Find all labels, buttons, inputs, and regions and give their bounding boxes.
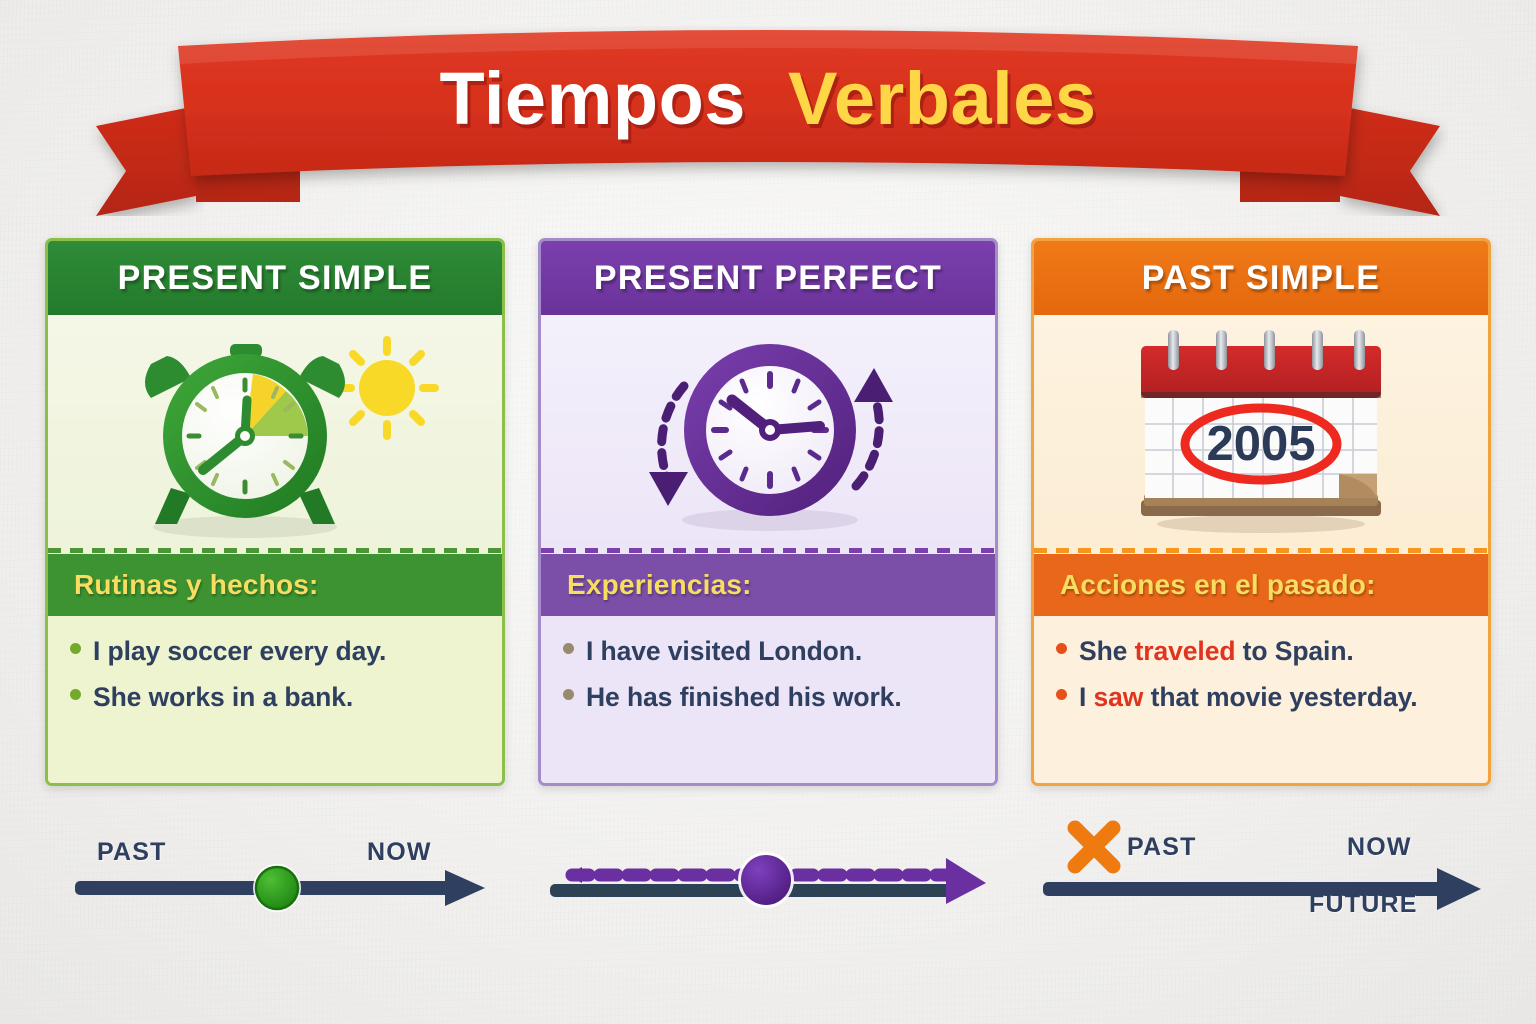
list-item: She works in a bank. [70, 682, 484, 712]
card-title-present-simple: PRESENT SIMPLE [118, 259, 433, 298]
timeline-arrow-green [45, 800, 505, 990]
list-item: I play soccer every day. [70, 636, 484, 666]
card-title-past-simple: PAST SIMPLE [1142, 259, 1380, 298]
example-text-pre: I [1079, 682, 1094, 712]
ribbon-graphic [0, 26, 1536, 216]
timeline-present-perfect [538, 800, 998, 990]
examples-present-perfect: I have visited London. He has finished h… [541, 616, 995, 783]
timeline-label-past: PAST [1127, 833, 1197, 862]
example-text: He has finished his work. [586, 682, 902, 712]
timeline-arrow-navy [1031, 800, 1491, 990]
band-past-simple: Acciones en el pasado: [1034, 554, 1488, 616]
timeline-label-now: NOW [367, 838, 432, 867]
examples-past-simple: She traveled to Spain. I saw that movie … [1034, 616, 1488, 783]
list-item: I saw that movie yesterday. [1056, 682, 1470, 712]
illustration-present-simple [48, 315, 502, 548]
example-text: She works in a bank. [93, 682, 353, 712]
illustration-past-simple: 2005 [1034, 315, 1488, 548]
examples-present-simple: I play soccer every day. She works in a … [48, 616, 502, 783]
example-highlight-verb: saw [1094, 682, 1144, 712]
example-highlight-verb: traveled [1135, 636, 1236, 666]
card-header-past-simple: PAST SIMPLE [1034, 241, 1488, 315]
list-item: I have visited London. [563, 636, 977, 666]
band-present-perfect: Experiencias: [541, 554, 995, 616]
timeline-past-simple: PAST NOW FUTURE [1031, 800, 1491, 990]
card-header-present-simple: PRESENT SIMPLE [48, 241, 502, 315]
band-label-present-perfect: Experiencias: [567, 569, 752, 601]
bullet-icon [1056, 643, 1067, 654]
calendar-2005-icon: 2005 [1111, 322, 1411, 542]
timeline-arrow-purple [538, 800, 998, 990]
timeline-label-future: FUTURE [1309, 890, 1418, 919]
card-present-perfect[interactable]: PRESENT PERFECT [538, 238, 998, 786]
timeline-label-now: NOW [1347, 833, 1412, 862]
timelines-row: PAST NOW [45, 800, 1491, 990]
example-text: I have visited London. [586, 636, 862, 666]
banner: Tiempos Verbales [0, 26, 1536, 216]
list-item: He has finished his work. [563, 682, 977, 712]
bullet-icon [563, 689, 574, 700]
clock-with-circular-arrows-icon [588, 322, 948, 542]
bullet-icon [563, 643, 574, 654]
timeline-present-simple: PAST NOW [45, 800, 505, 990]
calendar-year-text: 2005 [1206, 417, 1315, 471]
bullet-icon [70, 643, 81, 654]
sun-icon [339, 340, 435, 436]
bullet-icon [1056, 689, 1067, 700]
example-text-post: that movie yesterday. [1143, 682, 1417, 712]
band-label-present-simple: Rutinas y hechos: [74, 569, 319, 601]
card-title-present-perfect: PRESENT PERFECT [594, 259, 942, 298]
card-present-simple[interactable]: PRESENT SIMPLE [45, 238, 505, 786]
band-label-past-simple: Acciones en el pasado: [1060, 569, 1376, 601]
bullet-icon [70, 689, 81, 700]
example-text: I play soccer every day. [93, 636, 386, 666]
list-item: She traveled to Spain. [1056, 636, 1470, 666]
example-text-pre: She [1079, 636, 1135, 666]
card-past-simple[interactable]: PAST SIMPLE [1031, 238, 1491, 786]
card-header-present-perfect: PRESENT PERFECT [541, 241, 995, 315]
timeline-label-past: PAST [97, 838, 167, 867]
example-text-post: to Spain. [1235, 636, 1353, 666]
alarm-clock-with-sun-icon [95, 322, 455, 542]
band-present-simple: Rutinas y hechos: [48, 554, 502, 616]
x-mark-icon [1075, 828, 1113, 866]
tense-cards-row: PRESENT SIMPLE [45, 238, 1491, 786]
illustration-present-perfect [541, 315, 995, 548]
